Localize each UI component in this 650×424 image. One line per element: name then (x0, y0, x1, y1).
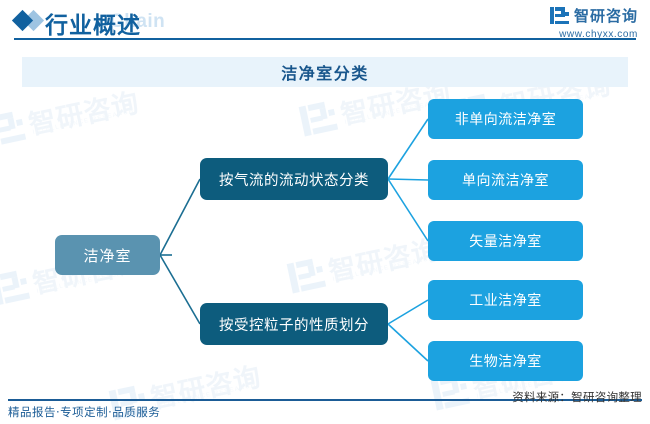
diagram-node-leaf-0[interactable]: 非单向流洁净室 (428, 99, 583, 139)
footer-source: 资料来源：智研咨询整理 (512, 389, 642, 405)
node-label: 单向流洁净室 (462, 170, 549, 190)
brand-logo-icon (550, 7, 569, 24)
node-label: 按受控粒子的性质划分 (219, 314, 369, 335)
node-label: 按气流的流动状态分类 (219, 169, 369, 190)
diagram-node-category-1[interactable]: 按受控粒子的性质划分 (200, 303, 388, 345)
chart-title-band: 洁净室分类 (22, 57, 628, 87)
node-label: 洁净室 (83, 245, 131, 266)
node-label: 生物洁净室 (469, 351, 542, 371)
brand-name: 智研咨询 (574, 5, 638, 26)
slide-canvas: 智研咨询 INTELLIGENCE RESEARCH 智研咨询 INTELLIG… (0, 0, 650, 424)
footer-tagline: 精品报告·专项定制·品质服务 (8, 404, 160, 420)
diagram-node-leaf-3[interactable]: 工业洁净室 (428, 280, 583, 320)
brand-block: 智研咨询 www.chyxx.com (550, 5, 638, 40)
diagram-node-category-0[interactable]: 按气流的流动状态分类 (200, 158, 388, 200)
node-label: 非单向流洁净室 (455, 109, 557, 129)
page-header: Chain 行业概述 智研咨询 www.chyxx.com (0, 0, 650, 46)
brand-url[interactable]: www.chyxx.com (550, 29, 638, 40)
diagram-node-leaf-4[interactable]: 生物洁净室 (428, 341, 583, 381)
diagram-node-leaf-2[interactable]: 矢量洁净室 (428, 221, 583, 261)
node-label: 矢量洁净室 (469, 231, 542, 251)
diagram-node-root[interactable]: 洁净室 (55, 235, 160, 275)
page-title: 行业概述 (45, 6, 141, 40)
chart-title-text: 洁净室分类 (281, 60, 369, 84)
node-label: 工业洁净室 (469, 290, 542, 310)
diagram-node-leaf-1[interactable]: 单向流洁净室 (428, 160, 583, 200)
